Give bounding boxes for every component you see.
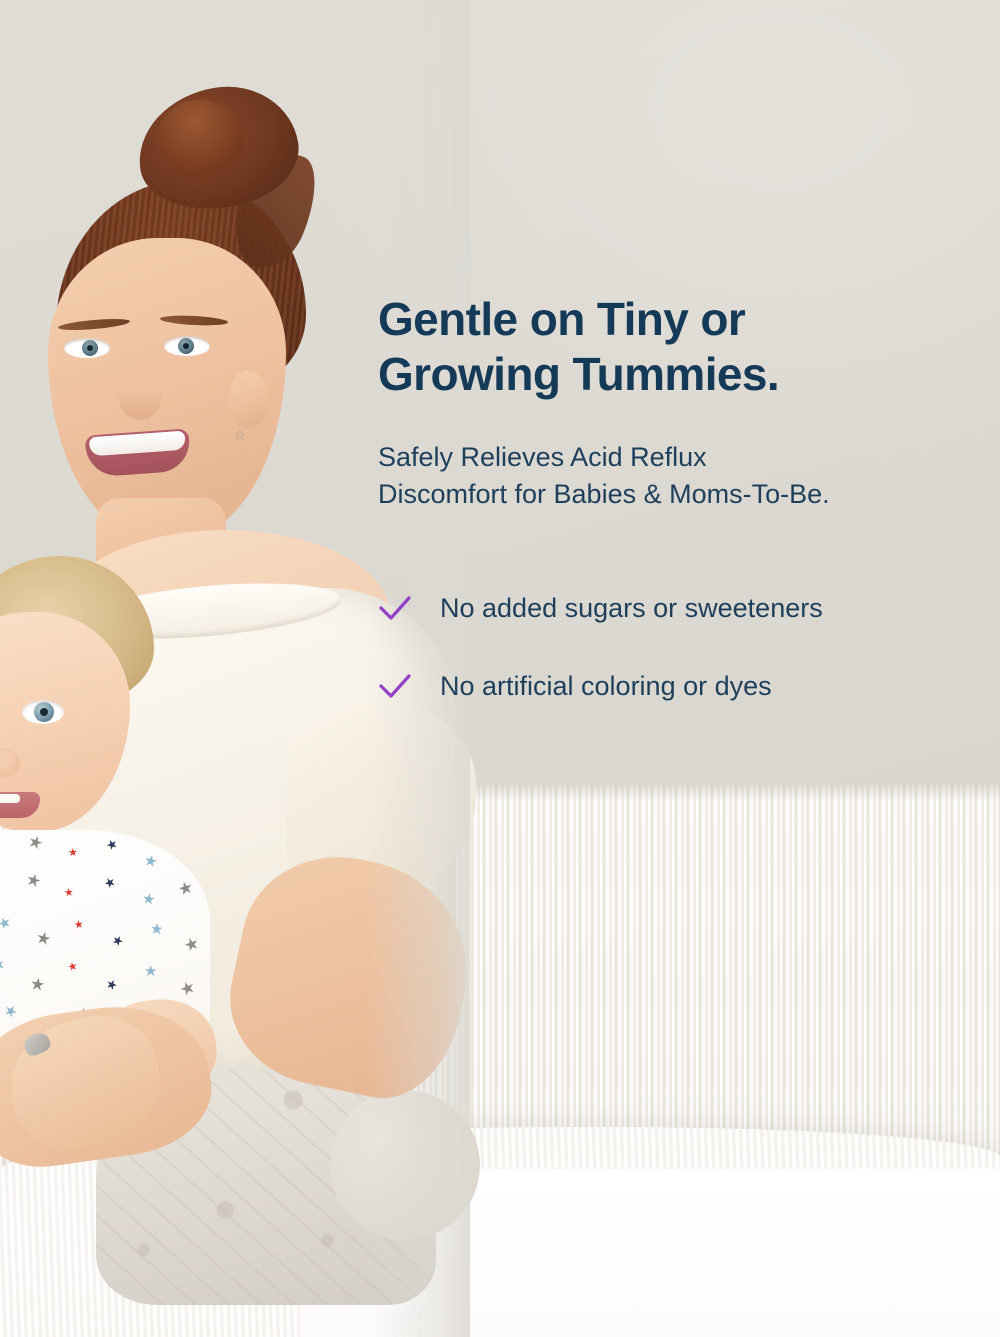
star-earring-icon: ☆ xyxy=(234,428,247,441)
star-icon: ★ xyxy=(67,961,79,974)
star-icon: ★ xyxy=(0,880,4,899)
star-icon: ★ xyxy=(144,964,157,979)
star-icon: ★ xyxy=(68,848,78,859)
page-title: Gentle on Tiny or Growing Tummies. xyxy=(378,292,978,401)
mother-knee xyxy=(330,1090,480,1240)
star-icon: ★ xyxy=(63,888,74,900)
star-icon: ★ xyxy=(104,836,120,853)
star-icon: ★ xyxy=(34,929,53,949)
star-icon: ★ xyxy=(1,1002,20,1022)
star-icon: ★ xyxy=(0,914,14,933)
mother-eye-left xyxy=(64,338,110,358)
star-icon: ★ xyxy=(177,978,198,1000)
star-icon: ★ xyxy=(0,842,1,860)
subheadline: Safely Relieves Acid Reflux Discomfort f… xyxy=(378,439,978,512)
check-icon xyxy=(378,592,412,626)
star-icon: ★ xyxy=(102,874,118,891)
benefit-list: No added sugars or sweetenersNo artifici… xyxy=(378,581,978,715)
star-icon: ★ xyxy=(143,853,159,870)
star-icon: ★ xyxy=(175,839,193,859)
promo-banner: ☆ ★★★★★★★★★★★★★★★★★★★★★★★★★★★★★★★★★★★★★★… xyxy=(0,0,1000,1337)
star-icon: ★ xyxy=(73,919,85,932)
star-icon: ★ xyxy=(25,832,45,853)
baby-eye-right xyxy=(22,700,64,724)
star-icon: ★ xyxy=(110,932,126,949)
copy-block: Gentle on Tiny or Growing Tummies. Safel… xyxy=(378,292,978,737)
benefit-item: No added sugars or sweeteners xyxy=(378,581,978,637)
star-icon: ★ xyxy=(149,922,163,938)
star-icon: ★ xyxy=(141,891,156,908)
star-icon: ★ xyxy=(176,878,195,898)
star-icon: ★ xyxy=(182,934,202,955)
mother-nose xyxy=(118,368,162,420)
mother-eye-right xyxy=(164,336,210,356)
star-icon: ★ xyxy=(24,870,44,891)
benefit-label: No artificial coloring or dyes xyxy=(440,673,772,700)
star-icon: ★ xyxy=(104,976,120,993)
check-icon xyxy=(378,670,412,704)
star-icon: ★ xyxy=(29,975,47,994)
star-icon: ★ xyxy=(0,956,8,976)
benefit-item: No artificial coloring or dyes xyxy=(378,659,978,715)
benefit-label: No added sugars or sweeteners xyxy=(440,595,823,622)
